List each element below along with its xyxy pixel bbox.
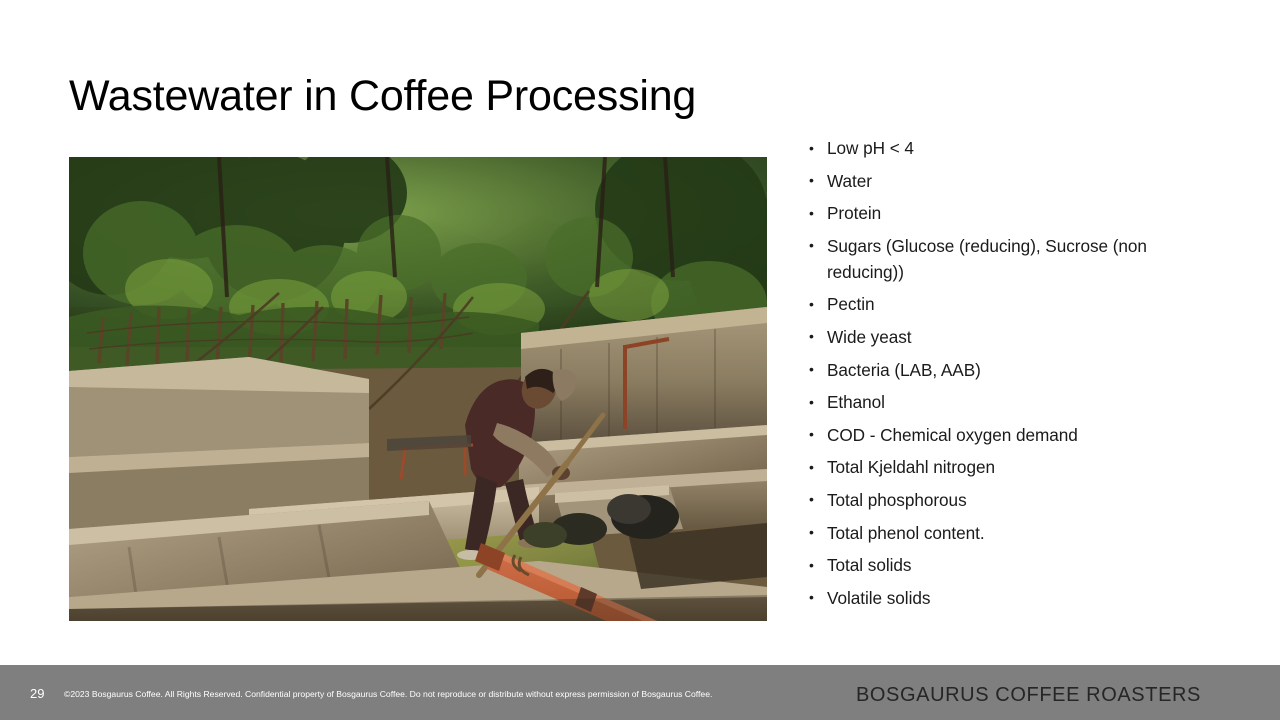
list-item: Total solids [806,552,1226,578]
list-item: Sugars (Glucose (reducing), Sucrose (non… [806,233,1226,285]
content-bullet-list: Low pH < 4 Water Protein Sugars (Glucose… [806,135,1226,617]
list-item: Ethanol [806,389,1226,415]
list-item: Low pH < 4 [806,135,1226,161]
slide-photo [69,157,767,621]
brand-wordmark: BOSGAURUS COFFEE ROASTERS [856,682,1201,708]
presentation-slide: Wastewater in Coffee Processing [0,0,1280,720]
list-item: Total phosphorous [806,487,1226,513]
coffee-washing-station-illustration [69,157,767,621]
list-item: Volatile solids [806,585,1226,611]
page-number: 29 [30,686,44,702]
list-item: Water [806,168,1226,194]
list-item: Protein [806,200,1226,226]
list-item: COD - Chemical oxygen demand [806,422,1226,448]
list-item: Bacteria (LAB, AAB) [806,357,1226,383]
page-title: Wastewater in Coffee Processing [69,70,969,122]
copyright-notice: ©2023 Bosgaurus Coffee. All Rights Reser… [64,688,712,700]
list-item: Pectin [806,291,1226,317]
list-item: Total phenol content. [806,520,1226,546]
list-item: Total Kjeldahl nitrogen [806,454,1226,480]
list-item: Wide yeast [806,324,1226,350]
